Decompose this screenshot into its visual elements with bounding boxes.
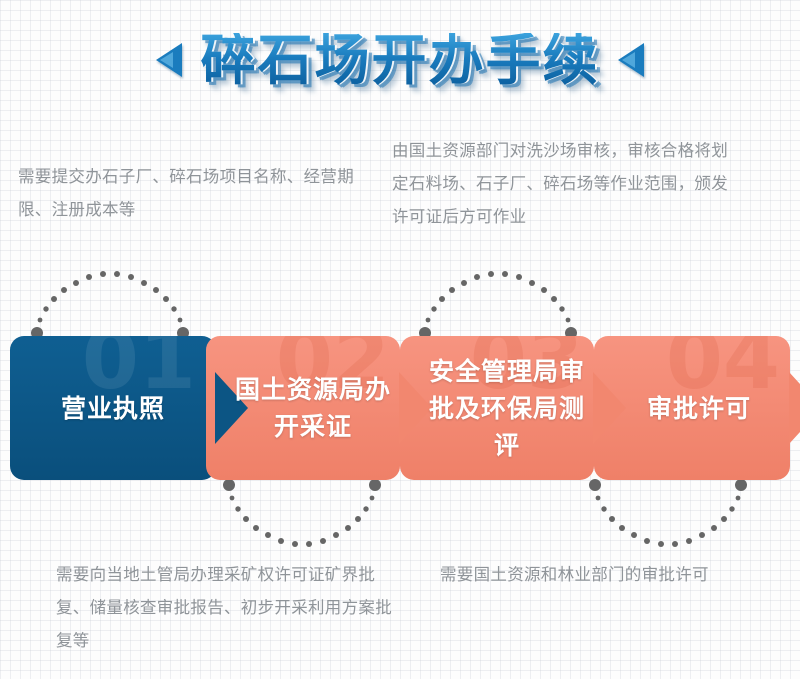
arc-connector-bottom-right xyxy=(588,478,748,561)
arc-connector-top-left xyxy=(30,262,190,345)
description-step-04: 需要国土资源和林业部门的审批许可 xyxy=(440,558,792,591)
process-flow: 01 营业执照 02 国土资源局办开采证 03 安全管理局审批及环保局测评 04… xyxy=(0,336,800,480)
flow-step-04-label: 审批许可 xyxy=(627,390,757,427)
page-title-bar: 碎石场开办手续 xyxy=(0,14,800,106)
triangle-left-icon xyxy=(618,43,644,77)
chevron-right-icon xyxy=(593,372,626,444)
dotted-arc-up-icon xyxy=(30,262,190,340)
flow-step-02-label: 国土资源局办开采证 xyxy=(206,371,400,445)
description-step-03: 由国土资源部门对洗沙场审核，审核合格将划定石料场、石子厂、碎石场等作业范围，颁发… xyxy=(392,134,744,233)
page-title: 碎石场开办手续 xyxy=(200,33,599,88)
description-step-02: 需要向当地土管局办理采矿权许可证矿界批复、储量核查审批报告、初步开采利用方案批复… xyxy=(56,558,401,657)
chevron-right-icon xyxy=(789,372,800,444)
flow-step-01-label: 营业执照 xyxy=(55,390,171,427)
triangle-left-icon xyxy=(156,43,182,77)
description-step-01: 需要提交办石子厂、碎石场项目名称、经营期限、注册成本等 xyxy=(18,160,368,226)
dotted-arc-down-icon xyxy=(588,478,748,556)
dotted-arc-up-icon xyxy=(418,262,578,340)
flow-step-03[interactable]: 03 安全管理局审批及环保局测评 xyxy=(400,336,594,480)
flow-step-02[interactable]: 02 国土资源局办开采证 xyxy=(206,336,400,480)
arc-connector-top-right xyxy=(418,262,578,345)
dotted-arc-down-icon xyxy=(222,478,382,556)
flow-step-03-label: 安全管理局审批及环保局测评 xyxy=(400,353,594,464)
arc-connector-bottom-left xyxy=(222,478,382,561)
flow-step-01[interactable]: 01 营业执照 xyxy=(10,336,216,480)
